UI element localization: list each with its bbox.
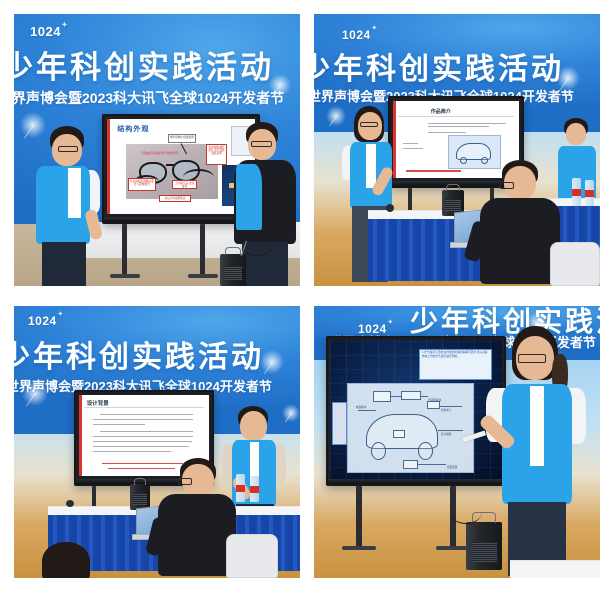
volunteer-vest (36, 166, 90, 244)
screen-stand-leg (356, 486, 362, 548)
event-logo: 1024✦ (28, 314, 57, 328)
screen-stand-leg (122, 224, 127, 276)
eyeglasses-icon (58, 146, 78, 152)
slide-title: 设计背景 (87, 399, 109, 407)
screen-stand-foot (110, 274, 140, 278)
event-logo-text: 1024 (30, 24, 61, 39)
screen-bezel (328, 479, 504, 484)
event-headline: 少年科创实践活动 (14, 332, 264, 376)
power-cable (240, 230, 274, 256)
event-logo-text: 1024 (342, 28, 371, 42)
text-line (100, 431, 194, 432)
text-line (93, 436, 193, 437)
highlight-line (406, 170, 461, 172)
text-line (428, 126, 488, 127)
audience-member (32, 542, 104, 578)
component-box (403, 460, 418, 469)
side-note-box (332, 402, 347, 445)
wheel (460, 157, 467, 164)
callout-bone-conduction: 骨传导喇叭 位置说明 (168, 134, 196, 143)
vehicle-schematic: 传感器模块 控制单元 电源模块 显示终端 报警装置 (347, 383, 474, 474)
inner-shirt (530, 386, 544, 466)
portable-speaker (466, 522, 502, 570)
component-label: 传感器模块 (428, 398, 441, 402)
jacket (158, 494, 236, 576)
sparkle-icon: ✦ (372, 24, 378, 32)
text-line (403, 143, 418, 144)
portable-speaker (220, 254, 246, 286)
component-box (401, 391, 421, 401)
event-headline: 少年科创实践活动 (314, 44, 564, 88)
annotation-text: 可自由折叠镜腿 便于收纳携带 (141, 151, 178, 155)
panel-top-left: 1024✦ 少年科创实践活动 世界声博会暨2023科大讯飞全球1024开发者节 … (14, 14, 300, 286)
eyeglasses-icon (500, 182, 514, 189)
screen-stand-foot (436, 546, 470, 550)
speaker-grill (445, 199, 461, 211)
event-logo: 1024✦ (30, 24, 61, 39)
screen-stand-foot (342, 546, 376, 550)
presentation-screen: 1.才艺展示与驾驶,在行驶途中遇到车辆不足时,可以对其他车上方的才艺展示进行控制… (326, 336, 506, 486)
callout-field-of-view: 前后不同视野覆盖 (159, 195, 192, 202)
panel-top-right: 1024✦ 少年科创实践活动 世界声博会暨2023科大讯飞全球1024开发者节 … (314, 14, 600, 286)
event-logo: 1024✦ (342, 28, 371, 42)
connector-line (358, 410, 376, 411)
text-line (93, 446, 189, 447)
component-label: 控制单元 (441, 408, 451, 412)
title-rule (84, 407, 204, 408)
speaker-handle (134, 478, 146, 485)
eyeglasses-icon (360, 122, 378, 127)
text-line (93, 451, 171, 452)
panel-bottom-left: 1024✦ 少年科创实践活动 世界声博会暨2023科大讯飞全球1024开发者节 … (14, 306, 300, 578)
microphone (386, 204, 394, 212)
student-presenter-left (28, 126, 106, 286)
title-rule (398, 116, 514, 117)
connector-line (418, 464, 446, 465)
text-line (403, 148, 423, 149)
bottle-label (585, 190, 594, 197)
speaker-grill (224, 266, 242, 280)
wheel (418, 442, 433, 460)
event-subline: 世界声博会暨2023科大讯飞全球1024开发者节 (14, 88, 284, 108)
microphone (66, 500, 74, 507)
water-bottle (585, 180, 594, 206)
slide-title: 结构外观 (117, 124, 149, 134)
inner-shirt (366, 144, 376, 188)
text-line (93, 424, 145, 425)
wheel (371, 442, 386, 460)
text-line (93, 419, 193, 420)
sparkle-icon: ✦ (388, 318, 394, 326)
speaker-handle (446, 184, 460, 191)
speaker-grill (471, 542, 497, 562)
screen-stand-foot (188, 274, 218, 278)
chair (550, 242, 600, 286)
volunteer-vest (236, 164, 262, 230)
slide-title: 作品简介 (431, 108, 451, 115)
text-line (100, 414, 194, 415)
component-box (373, 391, 391, 403)
slide-vehicle-schematic: 1.才艺展示与驾驶,在行驶途中遇到车辆不足时,可以对其他车上方的才艺展示进行控制… (330, 340, 502, 482)
eyeglasses-icon (178, 478, 192, 485)
sparkle-icon: ✦ (58, 310, 64, 318)
head (240, 411, 267, 441)
event-logo-text: 1024 (28, 314, 57, 328)
speaker-handle (225, 247, 241, 255)
screen-stand-leg (200, 224, 205, 276)
jacket (480, 198, 560, 284)
text-line (93, 441, 192, 442)
slide-accent-bar (107, 119, 110, 214)
head (566, 123, 586, 145)
glasses-bridge (166, 164, 174, 166)
side-table (510, 560, 600, 578)
speaker-grill (133, 493, 147, 505)
text-line (428, 132, 466, 133)
slide-accent-bar (79, 395, 82, 476)
callout-interaction: 语音唤醒 触控交互 蓝牙连接 续航说明 (206, 144, 227, 165)
inner-shirt (68, 168, 81, 218)
connector-line (421, 396, 429, 397)
component-box (393, 430, 404, 438)
component-box (427, 401, 440, 409)
event-headline: 少年科创实践活动 (14, 42, 274, 87)
slide-note-box: 1.才艺展示与驾驶,在行驶途中遇到车辆不足时,可以对其他车上方的才艺展示进行控制… (419, 349, 491, 380)
hair (42, 542, 90, 578)
panel-bottom-right: 1024✦ 少年科创实践活动 世界声博会暨2023科大讯飞全球1024开发者节 … (314, 306, 600, 578)
callout-camera: 具高清晰度 摄像头聚合 与影像能力 (128, 178, 156, 191)
sparkle-icon: ✦ (61, 20, 67, 29)
callout-rotation: 全向调节头 支持旋转 (172, 180, 197, 190)
eyeglasses-icon (251, 141, 272, 147)
component-label: 报警装置 (447, 465, 457, 469)
text-line (428, 123, 506, 124)
trousers (42, 242, 86, 286)
connector-line (391, 396, 402, 397)
power-cable (450, 500, 482, 524)
eyeglasses-icon (518, 354, 546, 363)
chair (226, 534, 278, 578)
component-label: 显示终端 (441, 432, 451, 436)
photo-collage: 1024✦ 少年科创实践活动 世界声博会暨2023科大讯飞全球1024开发者节 … (0, 0, 600, 600)
component-label: 电源模块 (356, 405, 366, 409)
